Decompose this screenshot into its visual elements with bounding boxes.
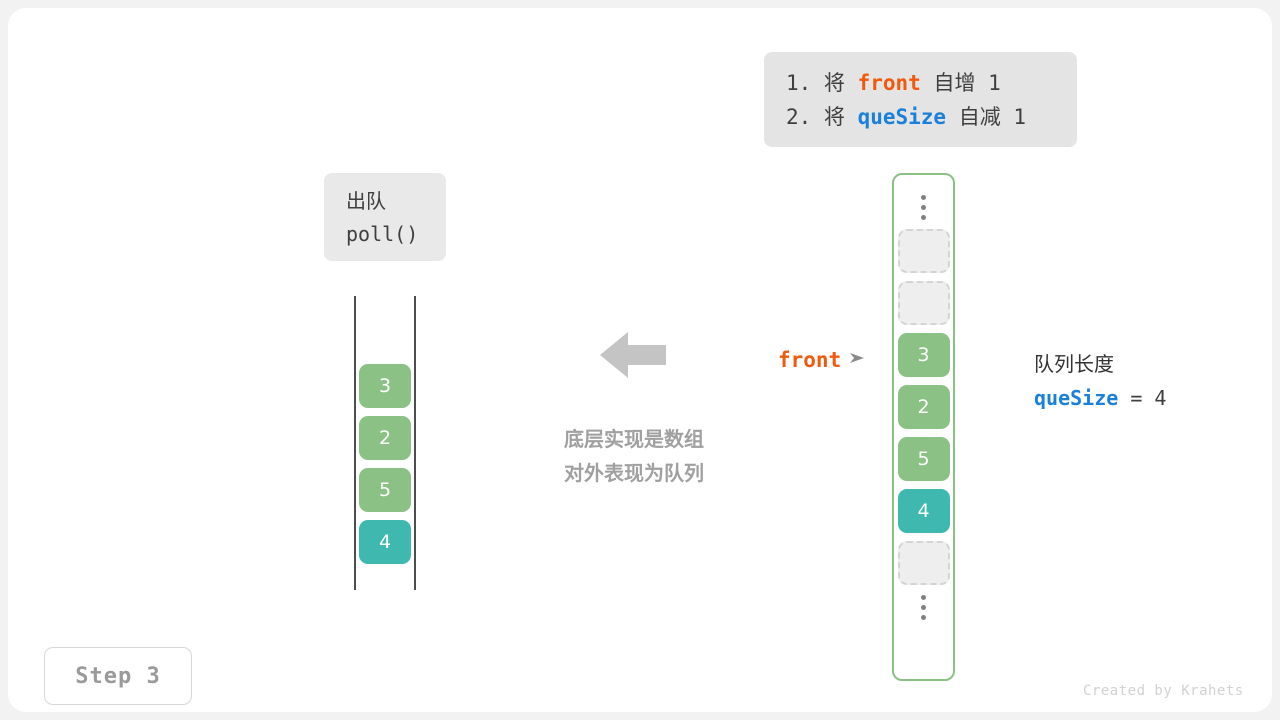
poll-operation-label: 出队 poll() [324,173,446,261]
instruction-line-1-prefix: 1. 将 [786,71,858,95]
instruction-line-2-prefix: 2. 将 [786,105,858,129]
instruction-box: 1. 将 front 自增 1 2. 将 queSize 自减 1 [764,52,1077,147]
quesize-var-name: queSize [1034,386,1118,410]
quesize-equals: = [1118,386,1154,410]
step-badge-label: Step 3 [75,664,160,689]
instruction-line-1-token: front [858,71,921,95]
caption-line-1: 底层实现是数组 [536,422,732,456]
instruction-line-2-token: queSize [858,105,947,129]
front-arrowhead-icon [850,351,866,370]
queue-rail-right [414,296,416,590]
array-cell: 4 [898,489,950,533]
instruction-line-1: 1. 将 front 自增 1 [786,66,1055,100]
queue-cell: 2 [359,416,411,460]
instruction-line-2-suffix: 自减 1 [946,105,1026,129]
physical-array: 3254 [892,173,955,681]
poll-label-line-2: poll() [346,218,446,251]
logical-queue: 3254 [354,296,416,590]
array-top-ellipsis-icon [898,185,950,229]
diagram-canvas: 1. 将 front 自增 1 2. 将 queSize 自减 1 出队 pol… [8,8,1272,712]
array-empty-slot [898,281,950,325]
caption-line-2: 对外表现为队列 [536,456,732,490]
physical-array-cells: 3254 [898,229,950,585]
quesize-note-title: 队列长度 [1034,348,1254,380]
instruction-line-1-suffix: 自增 1 [921,71,1001,95]
logical-queue-cells: 3254 [359,364,411,564]
array-cell: 2 [898,385,950,429]
left-arrow-icon [600,330,666,380]
quesize-note-expression: queSize = 4 [1034,380,1254,416]
front-pointer: front [778,348,866,372]
center-caption: 底层实现是数组 对外表现为队列 [536,422,732,490]
step-badge: Step 3 [44,647,192,705]
array-empty-slot [898,541,950,585]
queue-cell: 3 [359,364,411,408]
array-cell: 5 [898,437,950,481]
queue-rail-left [354,296,356,590]
front-pointer-label: front [778,348,841,372]
array-empty-slot [898,229,950,273]
queue-cell: 5 [359,468,411,512]
instruction-line-2: 2. 将 queSize 自减 1 [786,100,1055,134]
array-bottom-ellipsis-icon [898,585,950,629]
quesize-note: 队列长度 queSize = 4 [1034,348,1254,416]
queue-cell: 4 [359,520,411,564]
credit-text: Created by Krahets [1083,683,1244,699]
poll-label-line-1: 出队 [346,185,446,218]
quesize-value: 4 [1154,386,1166,410]
array-cell: 3 [898,333,950,377]
